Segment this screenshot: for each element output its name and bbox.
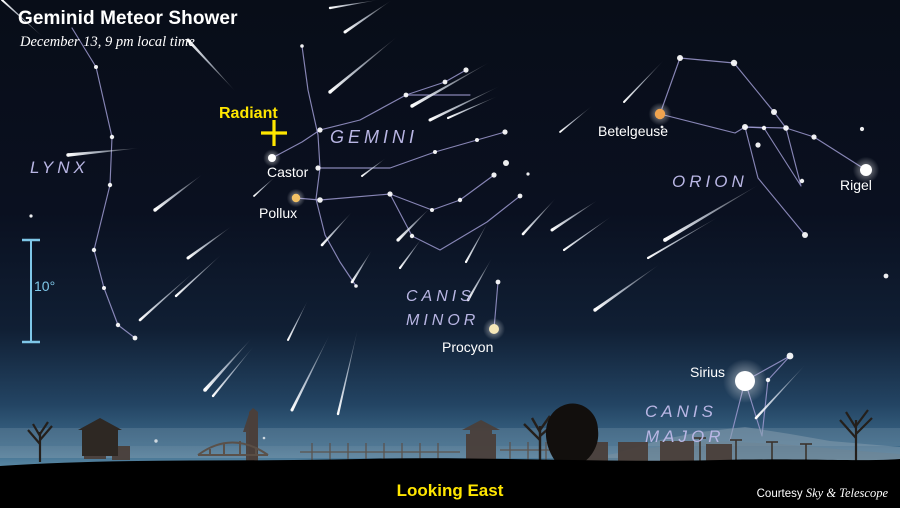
star-label-rigel: Rigel	[840, 177, 872, 193]
constellation-label-canis: CANIS	[645, 402, 717, 422]
constellation-label-major: MAJOR	[645, 427, 725, 447]
page-title: Geminid Meteor Shower	[18, 8, 238, 30]
constellation-label-orion: ORION	[672, 172, 748, 192]
constellation-label-minor: MINOR	[406, 312, 479, 330]
radiant-label: Radiant	[219, 105, 278, 123]
credit-prefix: Courtesy	[757, 488, 806, 500]
star-label-sirius: Sirius	[690, 364, 725, 380]
star-chart-image: Geminid Meteor Shower December 13, 9 pm …	[0, 0, 900, 508]
credit-source: Sky & Telescope	[806, 486, 888, 500]
scale-bar-label: 10°	[34, 278, 55, 294]
constellation-label-gemini: GEMINI	[330, 127, 418, 148]
subtitle: December 13, 9 pm local time	[20, 34, 195, 51]
star-label-castor: Castor	[267, 164, 308, 180]
constellation-label-canis: CANIS	[406, 288, 475, 306]
star-label-betelgeuse: Betelgeuse	[598, 123, 668, 139]
horizon-silhouette	[0, 0, 900, 508]
constellation-label-lynx: LYNX	[30, 158, 89, 178]
star-label-pollux: Pollux	[259, 205, 297, 221]
credit-line: Courtesy Sky & Telescope	[757, 486, 888, 501]
star-label-procyon: Procyon	[442, 339, 493, 355]
